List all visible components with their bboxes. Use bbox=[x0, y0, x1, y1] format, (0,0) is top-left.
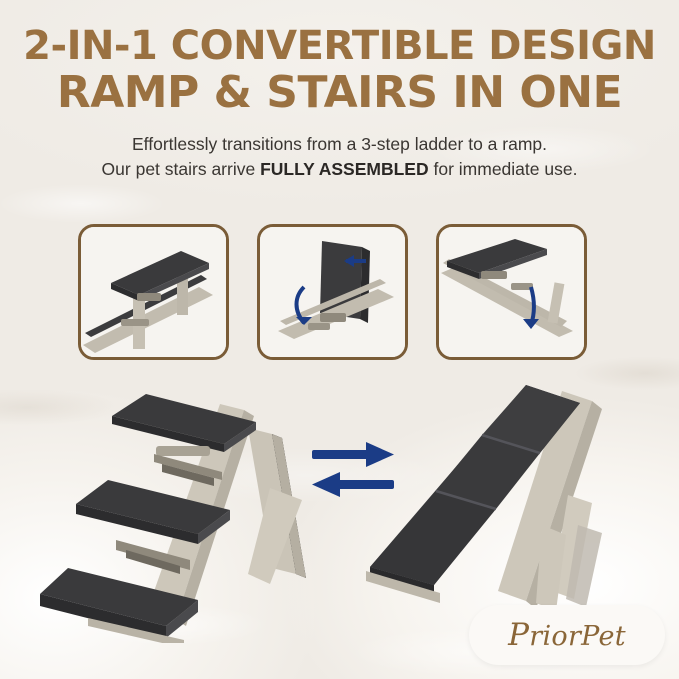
step-card-2 bbox=[257, 224, 408, 360]
subheadline-block: Effortlessly transitions from a 3-step l… bbox=[0, 132, 679, 183]
brand-logo-rest: riorPet bbox=[529, 621, 626, 652]
subheadline-emphasis: FULLY ASSEMBLED bbox=[260, 159, 429, 179]
subheadline-line-2-after: for immediate use. bbox=[429, 159, 578, 179]
brand-logo: PriorPet bbox=[469, 605, 665, 665]
product-pet-ramp bbox=[330, 375, 650, 640]
headline-line-1: 2-IN-1 CONVERTIBLE DESIGN bbox=[0, 26, 679, 67]
subheadline-line-1: Effortlessly transitions from a 3-step l… bbox=[0, 132, 679, 157]
brand-logo-initial: P bbox=[508, 617, 529, 653]
product-pet-stairs bbox=[34, 368, 354, 643]
subheadline-line-2-before: Our pet stairs arrive bbox=[102, 159, 261, 179]
subheadline-line-2: Our pet stairs arrive FULLY ASSEMBLED fo… bbox=[0, 157, 679, 182]
step-2-illustration bbox=[260, 227, 405, 357]
conversion-steps-row bbox=[78, 224, 587, 360]
pet-stairs-illustration bbox=[34, 368, 354, 643]
headline-line-2: RAMP & STAIRS IN ONE bbox=[0, 71, 679, 116]
step-3-illustration bbox=[439, 227, 584, 357]
step-1-illustration bbox=[81, 227, 226, 357]
step-card-3 bbox=[436, 224, 587, 360]
step-card-1 bbox=[78, 224, 229, 360]
brand-logo-text: PriorPet bbox=[508, 617, 626, 653]
promo-image: 2-IN-1 CONVERTIBLE DESIGN RAMP & STAIRS … bbox=[0, 0, 679, 679]
headline-block: 2-IN-1 CONVERTIBLE DESIGN RAMP & STAIRS … bbox=[0, 26, 679, 182]
pet-ramp-illustration bbox=[330, 375, 650, 640]
